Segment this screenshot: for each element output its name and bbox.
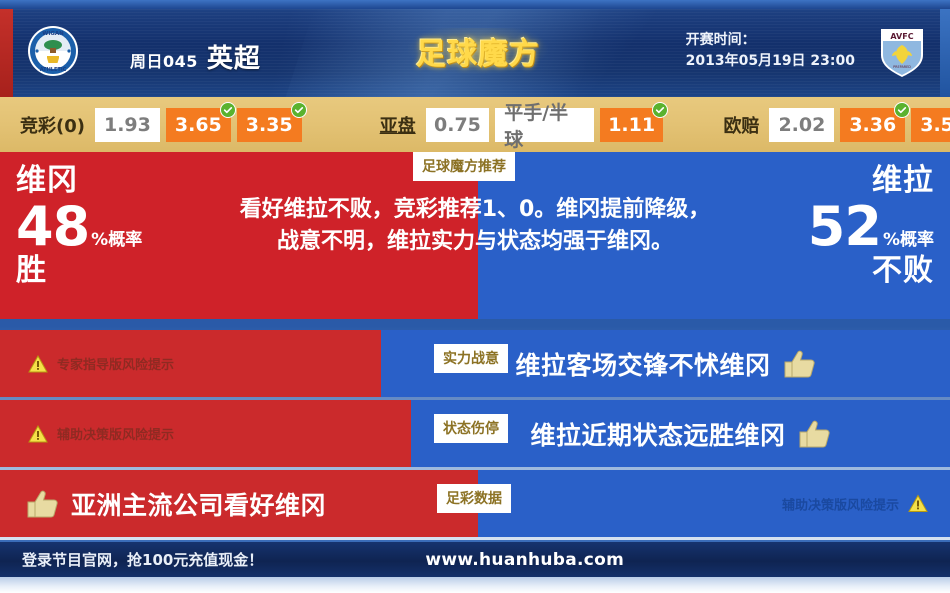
odds-value: 0.75 bbox=[434, 114, 481, 136]
odds-value: 1.11 bbox=[608, 114, 655, 136]
svg-text:ATHLETIC: ATHLETIC bbox=[40, 67, 67, 73]
prediction-text: 看好维拉不败，竞彩推荐1、0。维冈提前降级，战意不明，维拉实力与状态均强于维冈。 bbox=[237, 194, 713, 258]
risk-note-text: 辅助决策版风险提示 bbox=[57, 424, 174, 443]
header-left-red-accent bbox=[0, 9, 13, 97]
home-outcome-label: 胜 bbox=[16, 256, 142, 286]
odds-group-asian: 亚盘 0.75 平手/半球 1.11 bbox=[380, 108, 670, 142]
footer-website-url[interactable]: www.huanhuba.com bbox=[425, 550, 624, 570]
match-league-label: 英超 bbox=[207, 38, 261, 75]
odds-value: 2.02 bbox=[778, 114, 825, 136]
odds-group-european: 欧赔 2.02 3.36 3.54 bbox=[723, 108, 950, 142]
home-team-name: 维冈 bbox=[16, 166, 142, 196]
odds-cell-jingcai-home[interactable]: 1.93 bbox=[95, 108, 160, 142]
odds-cell-jingcai-away[interactable]: 3.35 bbox=[237, 108, 302, 142]
row-tab-label: 足彩数据 bbox=[437, 484, 511, 513]
footer-glow bbox=[0, 577, 950, 593]
away-outcome-label: 不败 bbox=[808, 256, 934, 286]
odds-cell-euro-home[interactable]: 2.02 bbox=[769, 108, 834, 142]
odds-bar: 竞彩(0) 1.93 3.65 3.35 亚盘 0.75 bbox=[0, 97, 950, 152]
analysis-row-form: 辅助决策版风险提示 维拉近期状态远胜维冈 状态伤停 bbox=[0, 400, 950, 467]
home-probability-unit: %概率 bbox=[91, 232, 142, 249]
header: WIGAN ATHLETIC 周日045 英超 足球魔方 开赛时间： 2013年… bbox=[0, 0, 950, 97]
check-icon bbox=[220, 102, 236, 118]
home-team-badge-icon: WIGAN ATHLETIC bbox=[27, 25, 79, 77]
prediction-panel: 维冈 48 %概率 胜 维拉 52 %概率 不败 足球魔方推荐 看好维拉不败，竞… bbox=[0, 152, 950, 319]
header-top-accent bbox=[0, 0, 950, 9]
header-right-blue-accent bbox=[940, 9, 950, 97]
odds-cell-asian-home[interactable]: 0.75 bbox=[426, 108, 490, 142]
row-tab-label: 状态伤停 bbox=[434, 414, 508, 443]
brand-logo: 足球魔方 bbox=[408, 28, 548, 74]
row-red-half: 辅助决策版风险提示 bbox=[0, 400, 411, 467]
away-probability-value: 52 bbox=[808, 200, 881, 254]
svg-text:PREPARED: PREPARED bbox=[893, 65, 911, 69]
odds-value: 3.54 bbox=[920, 114, 950, 136]
odds-value: 平手/半球 bbox=[504, 98, 585, 152]
odds-cell-jingcai-draw[interactable]: 3.65 bbox=[166, 108, 231, 142]
odds-group-title: 竞彩(0) bbox=[20, 112, 85, 138]
risk-note-text: 辅助决策版风险提示 bbox=[782, 494, 899, 513]
odds-group-title: 欧赔 bbox=[723, 112, 759, 138]
row-blue-half: 辅助决策版风险提示 bbox=[478, 470, 950, 537]
risk-note-text: 专家指导版风险提示 bbox=[57, 354, 174, 373]
match-round-label: 周日045 bbox=[130, 48, 198, 72]
away-team-badge-icon: AVFC PREPARED bbox=[876, 25, 928, 77]
kickoff-value: 2013年05月19日 23:00 bbox=[686, 51, 855, 72]
footer-bar: 登录节目官网，抢100元充值现金！ www.huanhuba.com bbox=[0, 540, 950, 577]
row-red-half: 专家指导版风险提示 bbox=[0, 330, 381, 397]
odds-group-jingcai: 竞彩(0) 1.93 3.65 3.35 bbox=[20, 108, 308, 142]
odds-cell-euro-draw[interactable]: 3.36 bbox=[840, 108, 905, 142]
row-verdict-text: 维拉近期状态远胜维冈 bbox=[530, 416, 785, 452]
analysis-row-betting-data: 亚洲主流公司看好维冈 辅助决策版风险提示 足彩数据 bbox=[0, 470, 950, 537]
kickoff-label: 开赛时间： bbox=[686, 30, 855, 51]
prediction-tab-label: 足球魔方推荐 bbox=[413, 152, 515, 181]
risk-note: 专家指导版风险提示 bbox=[0, 354, 174, 373]
warning-icon bbox=[908, 495, 928, 513]
risk-note: 辅助决策版风险提示 bbox=[0, 424, 174, 443]
odds-cell-euro-away[interactable]: 3.54 bbox=[911, 108, 950, 142]
row-red-half: 亚洲主流公司看好维冈 bbox=[0, 470, 478, 537]
row-verdict-text: 亚洲主流公司看好维冈 bbox=[71, 486, 326, 522]
odds-value: 3.36 bbox=[849, 114, 896, 136]
home-probability-value: 48 bbox=[16, 200, 89, 254]
home-probability-block: 维冈 48 %概率 胜 bbox=[16, 166, 142, 286]
match-title: 周日045 英超 bbox=[130, 38, 261, 75]
away-probability-block: 维拉 52 %概率 不败 bbox=[808, 166, 934, 286]
row-verdict-text: 维拉客场交锋不怵维冈 bbox=[515, 346, 770, 382]
warning-icon bbox=[28, 355, 48, 373]
match-preview-card: WIGAN ATHLETIC 周日045 英超 足球魔方 开赛时间： 2013年… bbox=[0, 0, 950, 593]
odds-value: 3.65 bbox=[175, 114, 222, 136]
thumbs-up-icon bbox=[783, 349, 816, 379]
odds-value: 3.35 bbox=[246, 114, 293, 136]
odds-value: 1.93 bbox=[104, 114, 151, 136]
risk-note: 辅助决策版风险提示 bbox=[782, 494, 928, 513]
analysis-row-strength: 专家指导版风险提示 维拉客场交锋不怵维冈 实力战意 bbox=[0, 330, 950, 397]
odds-cell-asian-handicap[interactable]: 平手/半球 bbox=[495, 108, 594, 142]
svg-text:AVFC: AVFC bbox=[890, 32, 913, 41]
odds-group-title: 亚盘 bbox=[380, 112, 416, 138]
row-tab-label: 实力战意 bbox=[434, 344, 508, 373]
check-icon bbox=[894, 102, 910, 118]
check-icon bbox=[291, 102, 307, 118]
check-icon bbox=[652, 102, 668, 118]
svg-text:WIGAN: WIGAN bbox=[42, 31, 64, 37]
warning-icon bbox=[28, 425, 48, 443]
footer-promo-text: 登录节目官网，抢100元充值现金！ bbox=[22, 549, 263, 570]
row-verdict: 亚洲主流公司看好维冈 bbox=[0, 486, 478, 522]
odds-cell-asian-away[interactable]: 1.11 bbox=[600, 108, 664, 142]
away-team-name: 维拉 bbox=[808, 166, 934, 196]
thumbs-up-icon bbox=[798, 419, 831, 449]
thumbs-up-icon bbox=[26, 489, 59, 519]
kickoff-info: 开赛时间： 2013年05月19日 23:00 bbox=[686, 30, 855, 72]
away-probability-unit: %概率 bbox=[883, 232, 934, 249]
